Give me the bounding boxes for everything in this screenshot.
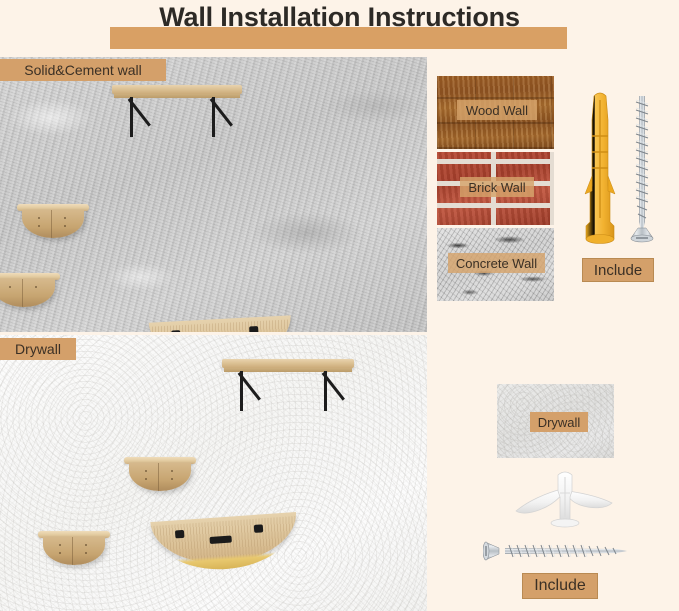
include-label-drywall: Include	[522, 573, 598, 599]
include-label-text: Include	[594, 263, 642, 278]
panel-label-text: Solid&Cement wall	[24, 63, 142, 77]
expansion-anchor-icon	[583, 90, 617, 245]
swatch-label-wood-wall: Wood Wall	[457, 100, 537, 120]
product-wall-shelf-cement	[112, 85, 242, 147]
photo-solid-cement-wall	[0, 57, 427, 332]
panel-label-text: Drywall	[15, 342, 61, 356]
panel-label-solid-cement: Solid&Cement wall	[0, 59, 166, 81]
product-hammock-cement	[149, 315, 294, 332]
product-perch-upper-drywall	[124, 457, 196, 495]
header: Wall Installation Instructions	[0, 0, 679, 57]
swatch-label-text: Brick Wall	[468, 181, 525, 194]
swatch-label-text: Concrete Wall	[456, 257, 537, 270]
toggle-anchor-icon	[510, 467, 620, 537]
hammock-clip	[171, 330, 180, 332]
include-label-text: Include	[534, 578, 586, 594]
swatch-label-brick-wall: Brick Wall	[460, 177, 534, 197]
swatch-label-drywall: Drywall	[530, 412, 588, 432]
page-title: Wall Installation Instructions	[0, 2, 679, 33]
include-label-solid-cement: Include	[582, 258, 654, 282]
hammock-clip	[254, 524, 264, 533]
product-hammock-drywall	[150, 512, 299, 576]
photo-drywall	[0, 335, 427, 611]
hammock-clip	[249, 326, 258, 332]
hammock-clip	[175, 530, 185, 539]
product-perch-upper-cement	[17, 204, 89, 242]
panel-label-drywall: Drywall	[0, 338, 76, 360]
product-wall-shelf-drywall	[222, 359, 354, 421]
swatch-label-concrete-wall: Concrete Wall	[448, 253, 545, 273]
swatch-label-text: Wood Wall	[466, 104, 528, 117]
product-perch-lower-cement	[0, 273, 60, 311]
product-perch-lower-drywall	[38, 531, 110, 569]
wood-screw-icon	[630, 90, 654, 245]
swatch-label-text: Drywall	[538, 416, 581, 429]
drywall-screw-icon	[483, 541, 633, 561]
